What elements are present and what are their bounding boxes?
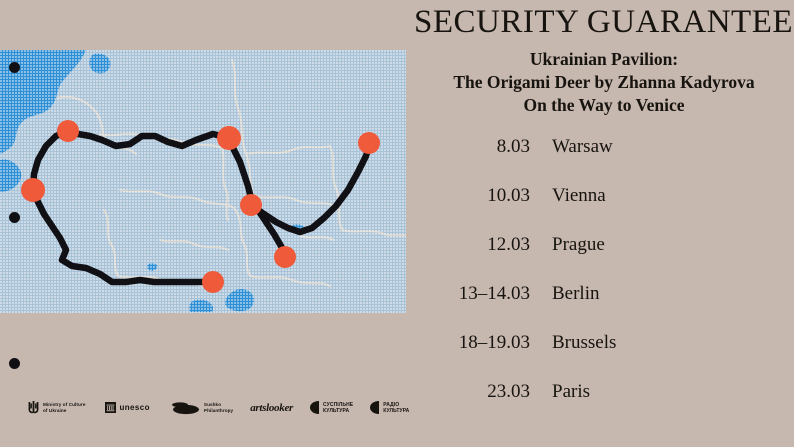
schedule-date: 8.03 — [414, 136, 552, 158]
schedule-city: Berlin — [552, 283, 794, 305]
logo-unesco: unesco — [102, 401, 152, 414]
schedule-city: Brussels — [552, 332, 794, 354]
poster-slide: SECURITY GUARANTEES Ukrainian Pavilion: … — [0, 0, 794, 447]
map-marker-prague[interactable] — [240, 194, 262, 216]
half-circle-icon — [310, 401, 319, 414]
logo-radio-kultura: РАДІО КУЛЬТУРА — [370, 401, 409, 414]
schedule-city: Warsaw — [552, 136, 794, 158]
list-item: 12.03 Prague — [414, 234, 794, 283]
logo-suspilne-text: СУСПІЛЬНЕ КУЛЬТУРА — [323, 402, 353, 414]
list-item: 10.03 Vienna — [414, 185, 794, 234]
punch-mark-middle — [9, 212, 20, 223]
unesco-temple-icon — [105, 402, 116, 413]
logo-sushko-philanthropy: Sushko Philanthropy — [170, 400, 233, 415]
schedule-date: 18–19.03 — [414, 332, 552, 354]
list-item: 23.03 Paris — [414, 381, 794, 430]
logo-radio-line-2: КУЛЬТУРА — [383, 408, 409, 414]
logo-artslooker: artslooker — [250, 402, 293, 414]
schedule-city: Prague — [552, 234, 794, 256]
europe-tour-map — [0, 50, 406, 313]
schedule-city: Vienna — [552, 185, 794, 207]
map-marker-venice[interactable] — [202, 271, 224, 293]
list-item: 18–19.03 Brussels — [414, 332, 794, 381]
map-marker-berlin[interactable] — [217, 126, 241, 150]
half-circle-icon — [370, 401, 379, 414]
punch-mark-top — [9, 62, 20, 73]
logo-ministry-of-culture-of-ukraine: Ministry of Culture of Ukraine — [28, 400, 85, 415]
schedule-city: Paris — [552, 381, 794, 403]
page-title: SECURITY GUARANTEES — [414, 4, 794, 41]
map-marker-vienna[interactable] — [274, 246, 296, 268]
tour-route-line — [0, 50, 406, 313]
subtitle-block: Ukrainian Pavilion: The Origami Deer by … — [414, 48, 794, 117]
logo-sushko-text: Sushko Philanthropy — [204, 402, 233, 413]
logo-ministry-line-1: Ministry of Culture — [43, 402, 85, 407]
schedule-date: 23.03 — [414, 381, 552, 403]
tour-schedule-list: 8.03 Warsaw 10.03 Vienna 12.03 Prague 13… — [414, 136, 794, 430]
punch-mark-bottom — [9, 358, 20, 369]
partner-logo-strip: Ministry of Culture of Ukraine unesco — [28, 400, 409, 415]
logo-suspilne-kultura: СУСПІЛЬНЕ КУЛЬТУРА — [310, 401, 353, 414]
list-item: 13–14.03 Berlin — [414, 283, 794, 332]
logo-suspilne-line-2: КУЛЬТУРА — [323, 408, 349, 414]
list-item: 8.03 Warsaw — [414, 136, 794, 185]
logo-artslooker-wordmark: artslooker — [250, 402, 293, 414]
logo-ministry-line-2: of Ukraine — [43, 408, 66, 413]
map-marker-brussels[interactable] — [57, 120, 79, 142]
logo-radio-text: РАДІО КУЛЬТУРА — [383, 402, 409, 414]
subtitle-line-2: The Origami Deer by Zhanna Kadyrova — [414, 71, 794, 94]
subtitle-line-3: On the Way to Venice — [414, 94, 794, 117]
logo-sushko-line-1: Sushko — [204, 402, 221, 407]
schedule-date: 13–14.03 — [414, 283, 552, 305]
subtitle-line-1: Ukrainian Pavilion: — [414, 48, 794, 71]
map-marker-paris[interactable] — [21, 178, 45, 202]
ukraine-trident-icon — [28, 400, 39, 415]
logo-sushko-line-2: Philanthropy — [204, 408, 233, 413]
map-marker-warsaw[interactable] — [358, 132, 380, 154]
logo-unesco-wordmark: unesco — [119, 403, 149, 412]
schedule-date: 10.03 — [414, 185, 552, 207]
sushko-blob-icon — [170, 400, 200, 415]
logo-ministry-text: Ministry of Culture of Ukraine — [43, 402, 85, 413]
schedule-date: 12.03 — [414, 234, 552, 256]
